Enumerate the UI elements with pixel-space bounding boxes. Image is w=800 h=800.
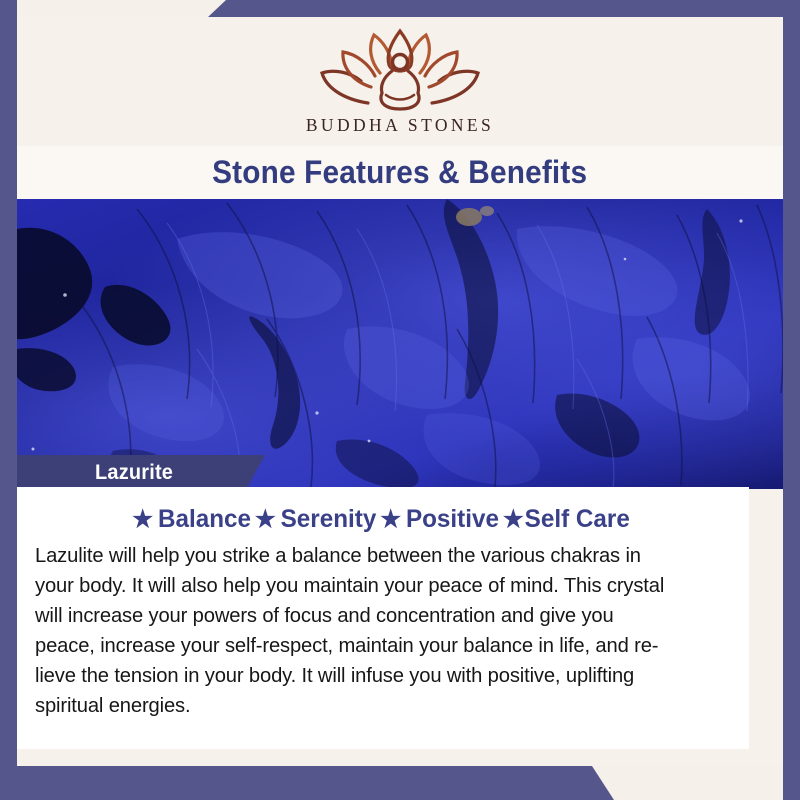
brand-logo-block: BUDDHA STONES: [17, 17, 783, 146]
frame-right-bar: [783, 0, 800, 800]
description-line: will increase your powers of focus and c…: [35, 601, 721, 631]
star-icon: ★: [380, 508, 401, 532]
stone-name-tab: Lazurite: [17, 455, 265, 491]
star-icon: ★: [255, 508, 276, 532]
description-line: spiritual energies.: [35, 691, 721, 721]
keyword-self-care: Self Care: [525, 505, 630, 534]
lazurite-stone-photo: [17, 199, 783, 489]
frame-top-bar: [0, 0, 800, 17]
star-icon: ★: [503, 508, 524, 532]
description-line: lieve the tension in your body. It will …: [35, 661, 721, 691]
stone-description: Lazulite will help you strike a balance …: [35, 541, 721, 721]
description-line: peace, increase your self-respect, maint…: [35, 631, 721, 661]
description-line: Lazulite will help you strike a balance …: [35, 541, 721, 571]
keyword-positive: Positive: [406, 505, 499, 534]
page-title: Stone Features & Benefits: [212, 154, 587, 191]
brand-wordmark: BUDDHA STONES: [306, 115, 494, 136]
poster-root: BUDDHA STONES Stone Features & Benefits: [0, 0, 800, 800]
stone-name-label: Lazurite: [95, 461, 173, 485]
frame-left-bar: [0, 0, 17, 800]
keyword-list: ★ Balance ★ Serenity ★ Positive ★ Self C…: [45, 505, 720, 534]
title-banner: Stone Features & Benefits: [17, 146, 783, 199]
keyword-balance: Balance: [158, 505, 251, 534]
lotus-meditation-figure-icon: [316, 25, 484, 113]
star-icon: ★: [132, 508, 153, 532]
keyword-serenity: Serenity: [281, 505, 377, 534]
description-line: your body. It will also help you maintai…: [35, 571, 721, 601]
frame-bottom-bar: [0, 766, 800, 800]
content-panel: ★ Balance ★ Serenity ★ Positive ★ Self C…: [17, 487, 749, 749]
